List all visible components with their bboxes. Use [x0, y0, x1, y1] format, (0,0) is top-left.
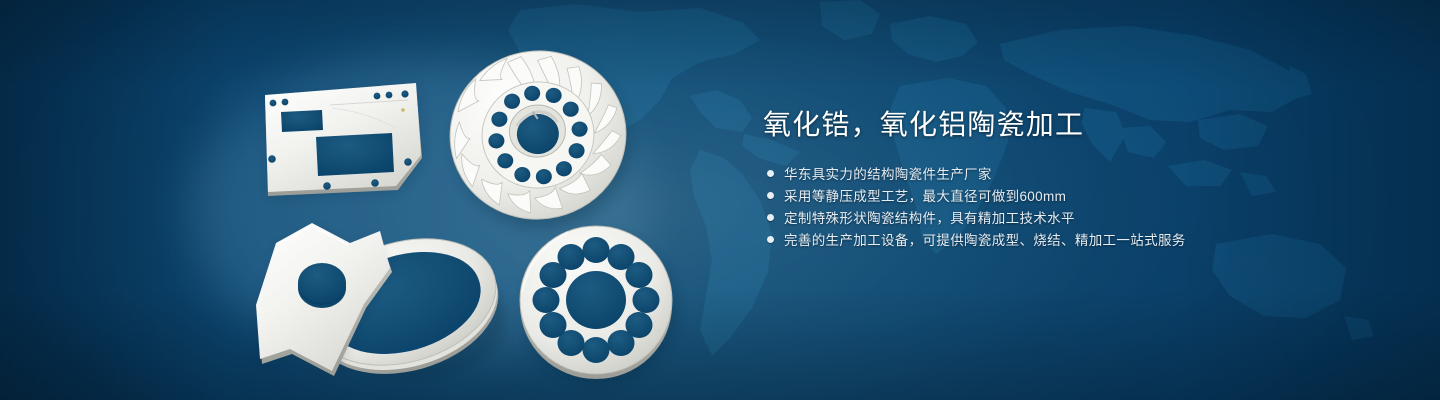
- banner-copy: 氧化锆，氧化铝陶瓷加工 华东具实力的结构陶瓷件生产厂家 采用等静压成型工艺，最大…: [763, 108, 1323, 252]
- list-item: 采用等静压成型工艺，最大直径可做到600mm: [763, 186, 1323, 208]
- bullet-dot-icon: [767, 170, 774, 177]
- feature-label: 定制特殊形状陶瓷结构件，具有精加工技术水平: [784, 208, 1075, 230]
- ceramic-parts-photo: [0, 0, 760, 400]
- feature-label: 华东具实力的结构陶瓷件生产厂家: [784, 164, 992, 186]
- hero-banner: 氧化锆，氧化铝陶瓷加工 华东具实力的结构陶瓷件生产厂家 采用等静压成型工艺，最大…: [0, 0, 1440, 400]
- list-item: 华东具实力的结构陶瓷件生产厂家: [763, 164, 1323, 186]
- list-item: 定制特殊形状陶瓷结构件，具有精加工技术水平: [763, 208, 1323, 230]
- bullet-dot-icon: [767, 236, 774, 243]
- feature-label: 完善的生产加工设备，可提供陶瓷成型、烧结、精加工一站式服务: [784, 230, 1186, 252]
- feature-label: 采用等静压成型工艺，最大直径可做到600mm: [784, 186, 1066, 208]
- ceramic-holed-ring-part: [520, 226, 676, 384]
- ceramic-plate-part: [265, 83, 422, 196]
- feature-list: 华东具实力的结构陶瓷件生产厂家 采用等静压成型工艺，最大直径可做到600mm 定…: [763, 164, 1323, 252]
- list-item: 完善的生产加工设备，可提供陶瓷成型、烧结、精加工一站式服务: [763, 230, 1323, 252]
- bullet-dot-icon: [767, 192, 774, 199]
- page-title: 氧化锆，氧化铝陶瓷加工: [763, 108, 1323, 142]
- bullet-dot-icon: [767, 214, 774, 221]
